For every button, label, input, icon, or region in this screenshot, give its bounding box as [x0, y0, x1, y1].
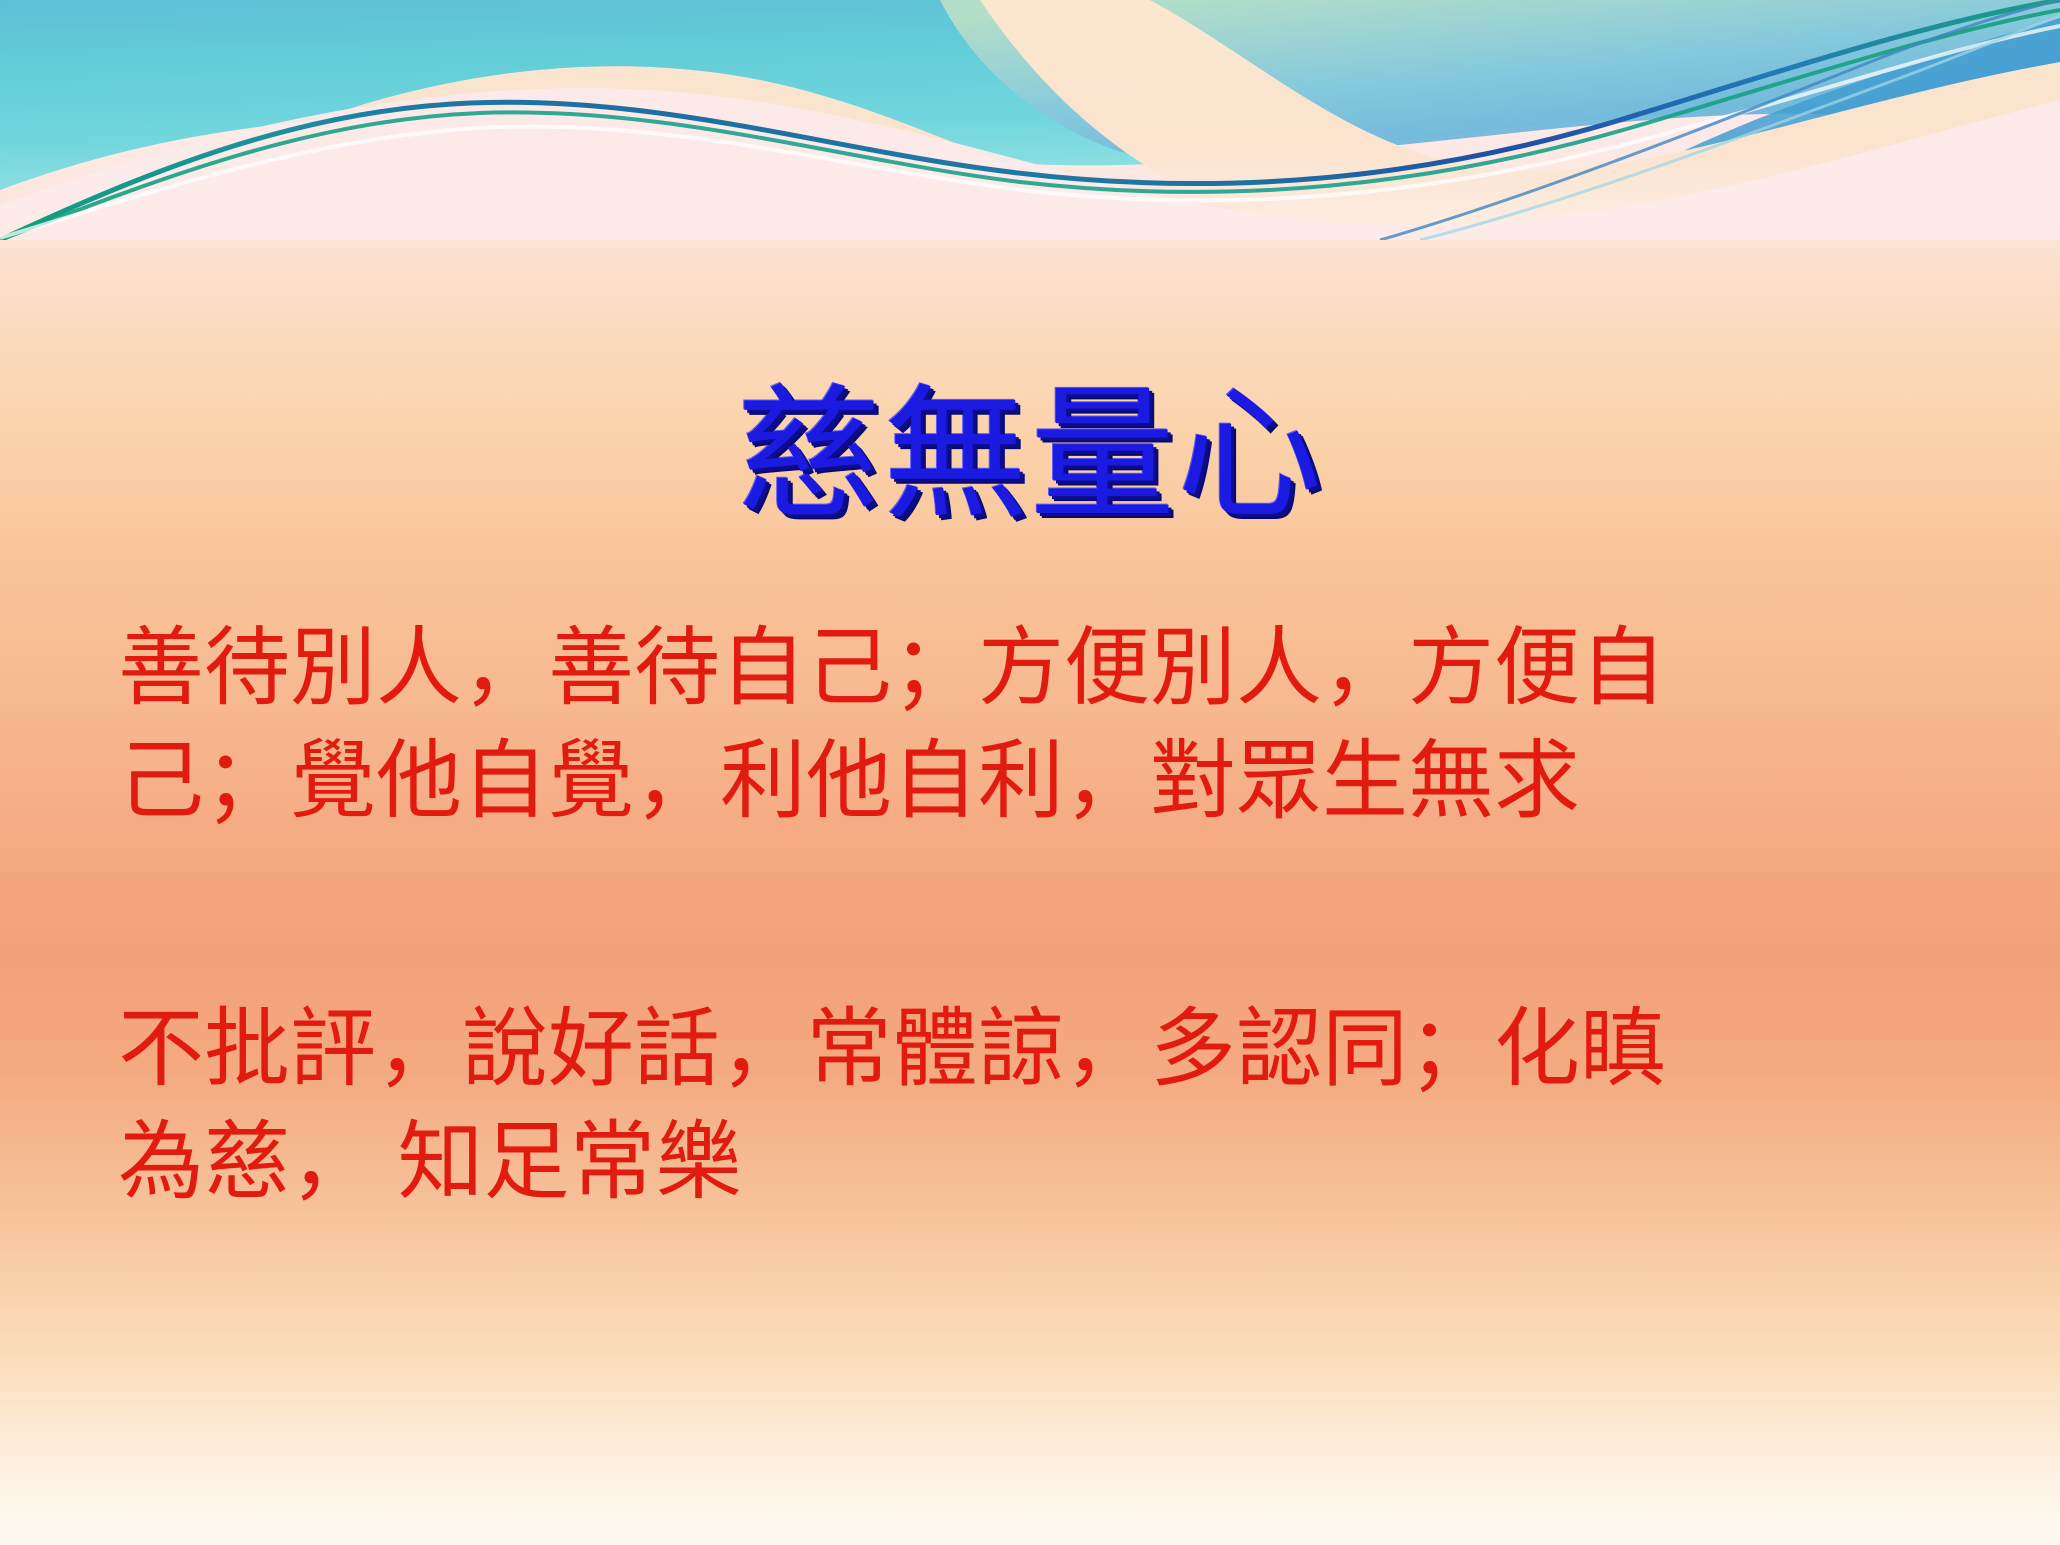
- paragraph-1-line-1: 善待別人，善待自己；方便別人，方便自: [118, 612, 1918, 725]
- slide-body: 善待別人，善待自己；方便別人，方便自 己；覺他自覺，利他自利，對眾生無求 不批評…: [118, 612, 1918, 1219]
- slide-content: 慈無量心 善待別人，善待自己；方便別人，方便自 己；覺他自覺，利他自利，對眾生無…: [0, 0, 2060, 1545]
- slide-title: 慈無量心: [0, 385, 2060, 530]
- paragraph-1-line-2: 己；覺他自覺，利他自利，對眾生無求: [118, 725, 1918, 838]
- paragraph-2-line-1: 不批評，說好話，常體諒，多認同；化瞋: [118, 993, 1918, 1106]
- paragraph-spacer: [118, 838, 1918, 993]
- paragraph-2-line-2: 為慈， 知足常樂: [118, 1106, 1918, 1219]
- paragraph-1: 善待別人，善待自己；方便別人，方便自 己；覺他自覺，利他自利，對眾生無求: [118, 612, 1918, 838]
- paragraph-2: 不批評，說好話，常體諒，多認同；化瞋 為慈， 知足常樂: [118, 993, 1918, 1219]
- presentation-slide: 慈無量心 善待別人，善待自己；方便別人，方便自 己；覺他自覺，利他自利，對眾生無…: [0, 0, 2060, 1545]
